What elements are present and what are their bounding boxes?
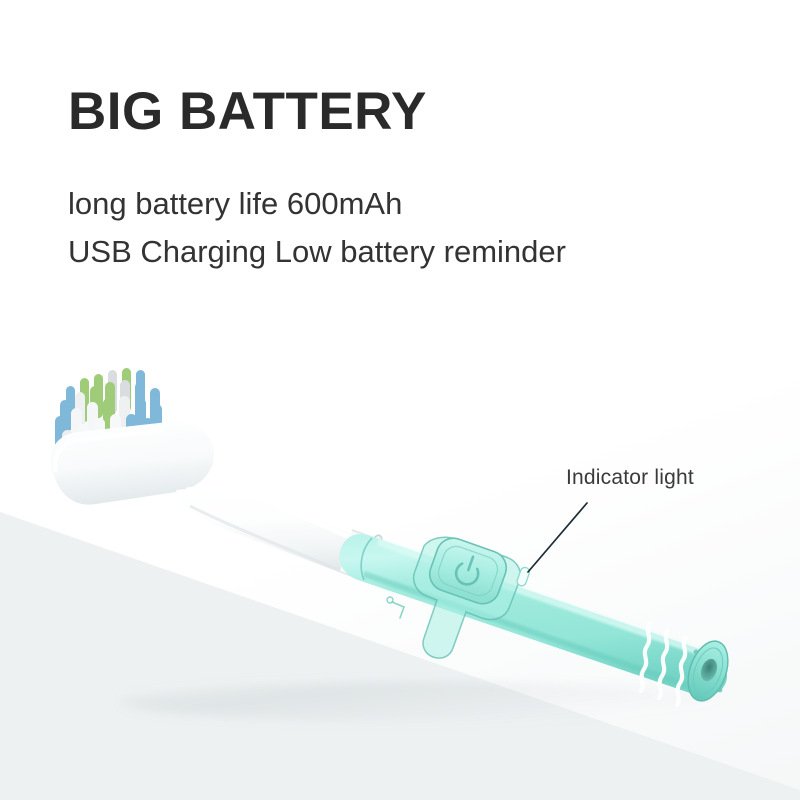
- callout-label-indicator-light: Indicator light: [566, 466, 694, 490]
- text-block: BIG BATTERY long battery life 600mAh USB…: [68, 84, 728, 276]
- feature-line-2: USB Charging Low battery reminder: [68, 228, 728, 276]
- product-image: [0, 330, 800, 770]
- product-shadow: [120, 682, 720, 722]
- feature-list: long battery life 600mAh USB Charging Lo…: [68, 180, 728, 276]
- page-title: BIG BATTERY: [68, 84, 728, 140]
- feature-line-1: long battery life 600mAh: [68, 180, 728, 228]
- handle: [339, 534, 727, 695]
- product-feature-page: BIG BATTERY long battery life 600mAh USB…: [0, 0, 800, 800]
- toothbrush-illustration: [0, 330, 800, 770]
